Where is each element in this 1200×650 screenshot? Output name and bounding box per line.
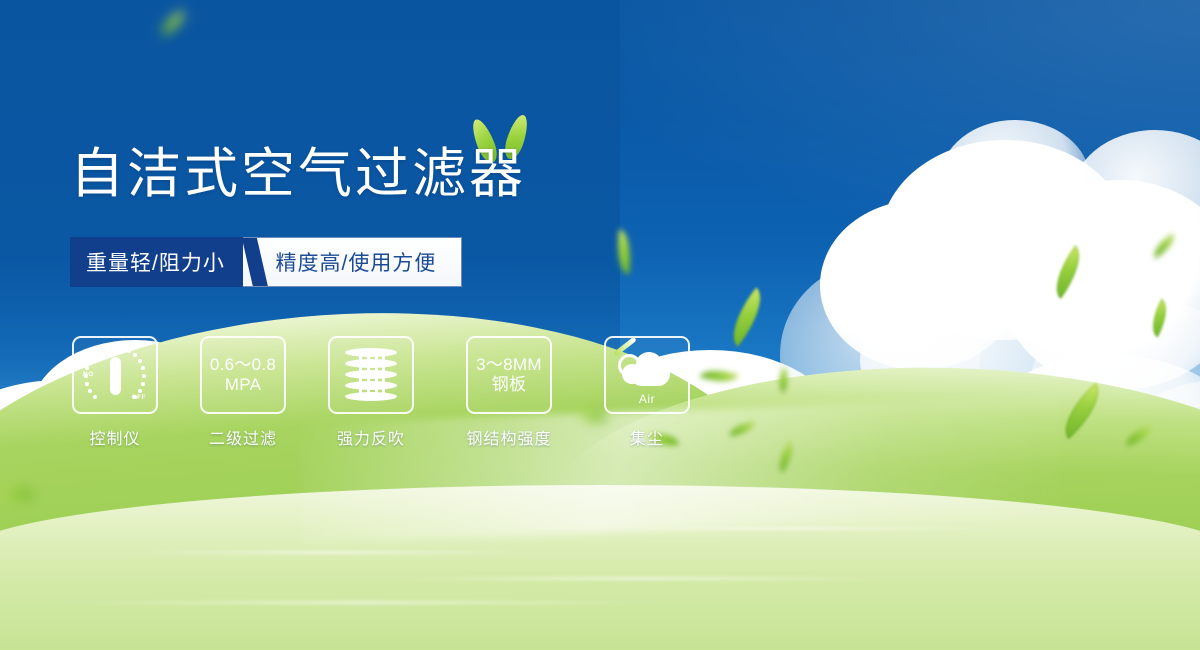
feature-icon-box (328, 336, 414, 414)
subtitle-right-text: 精度高/使用方便 (276, 247, 437, 277)
feature-item-pressure[interactable]: 0.6～0.8 MPA 二级过滤 (198, 336, 288, 449)
product-hero-banner: 自洁式空气过滤器 重量轻/阻力小 精度高/使用方便 (0, 0, 1200, 650)
cloud-air-icon: Air (616, 348, 678, 402)
feature-icon-box: Air (604, 336, 690, 414)
air-label: Air (616, 392, 678, 406)
feature-label: 控制仪 (89, 425, 140, 449)
gauge-label-off: OFF (132, 394, 147, 401)
gauge-icon: NO OFF (84, 346, 146, 404)
light-ray-icon (613, 337, 637, 357)
filter-stack-icon (345, 346, 397, 404)
banner-content: 自洁式空气过滤器 重量轻/阻力小 精度高/使用方便 (0, 0, 1200, 650)
feature-item-backblow[interactable]: 强力反吹 (326, 336, 416, 449)
feature-icon-box: 0.6～0.8 MPA (200, 336, 286, 414)
feature-item-dust-collection[interactable]: Air 集尘 (602, 336, 692, 449)
feature-icon-box: 3～8MM 钢板 (466, 336, 552, 414)
subtitle-left-text: 重量轻/阻力小 (86, 247, 225, 277)
subtitle-badge-bar: 重量轻/阻力小 精度高/使用方便 (70, 237, 462, 287)
subtitle-badge-right: 精度高/使用方便 (243, 237, 462, 287)
feature-icon-row: NO OFF 控制仪 0.6～0.8 MPA 二级过滤 (70, 336, 692, 449)
feature-label: 集尘 (630, 425, 664, 449)
feature-label: 钢结构强度 (466, 425, 551, 449)
badge-slash-divider (242, 238, 268, 286)
gauge-label-no: NO (83, 371, 94, 378)
steel-plate-text-icon: 3～8MM 钢板 (476, 355, 542, 395)
feature-item-steel-strength[interactable]: 3～8MM 钢板 钢结构强度 (454, 336, 564, 449)
feature-label: 二级过滤 (209, 425, 277, 449)
gauge-needle (110, 357, 121, 395)
feature-icon-box: NO OFF (72, 336, 158, 414)
pressure-text-icon: 0.6～0.8 MPA (210, 355, 276, 395)
feature-item-control-gauge[interactable]: NO OFF 控制仪 (70, 336, 160, 449)
page-title: 自洁式空气过滤器 (70, 147, 526, 201)
feature-label: 强力反吹 (337, 425, 405, 449)
subtitle-badge-left: 重量轻/阻力小 (70, 237, 243, 287)
